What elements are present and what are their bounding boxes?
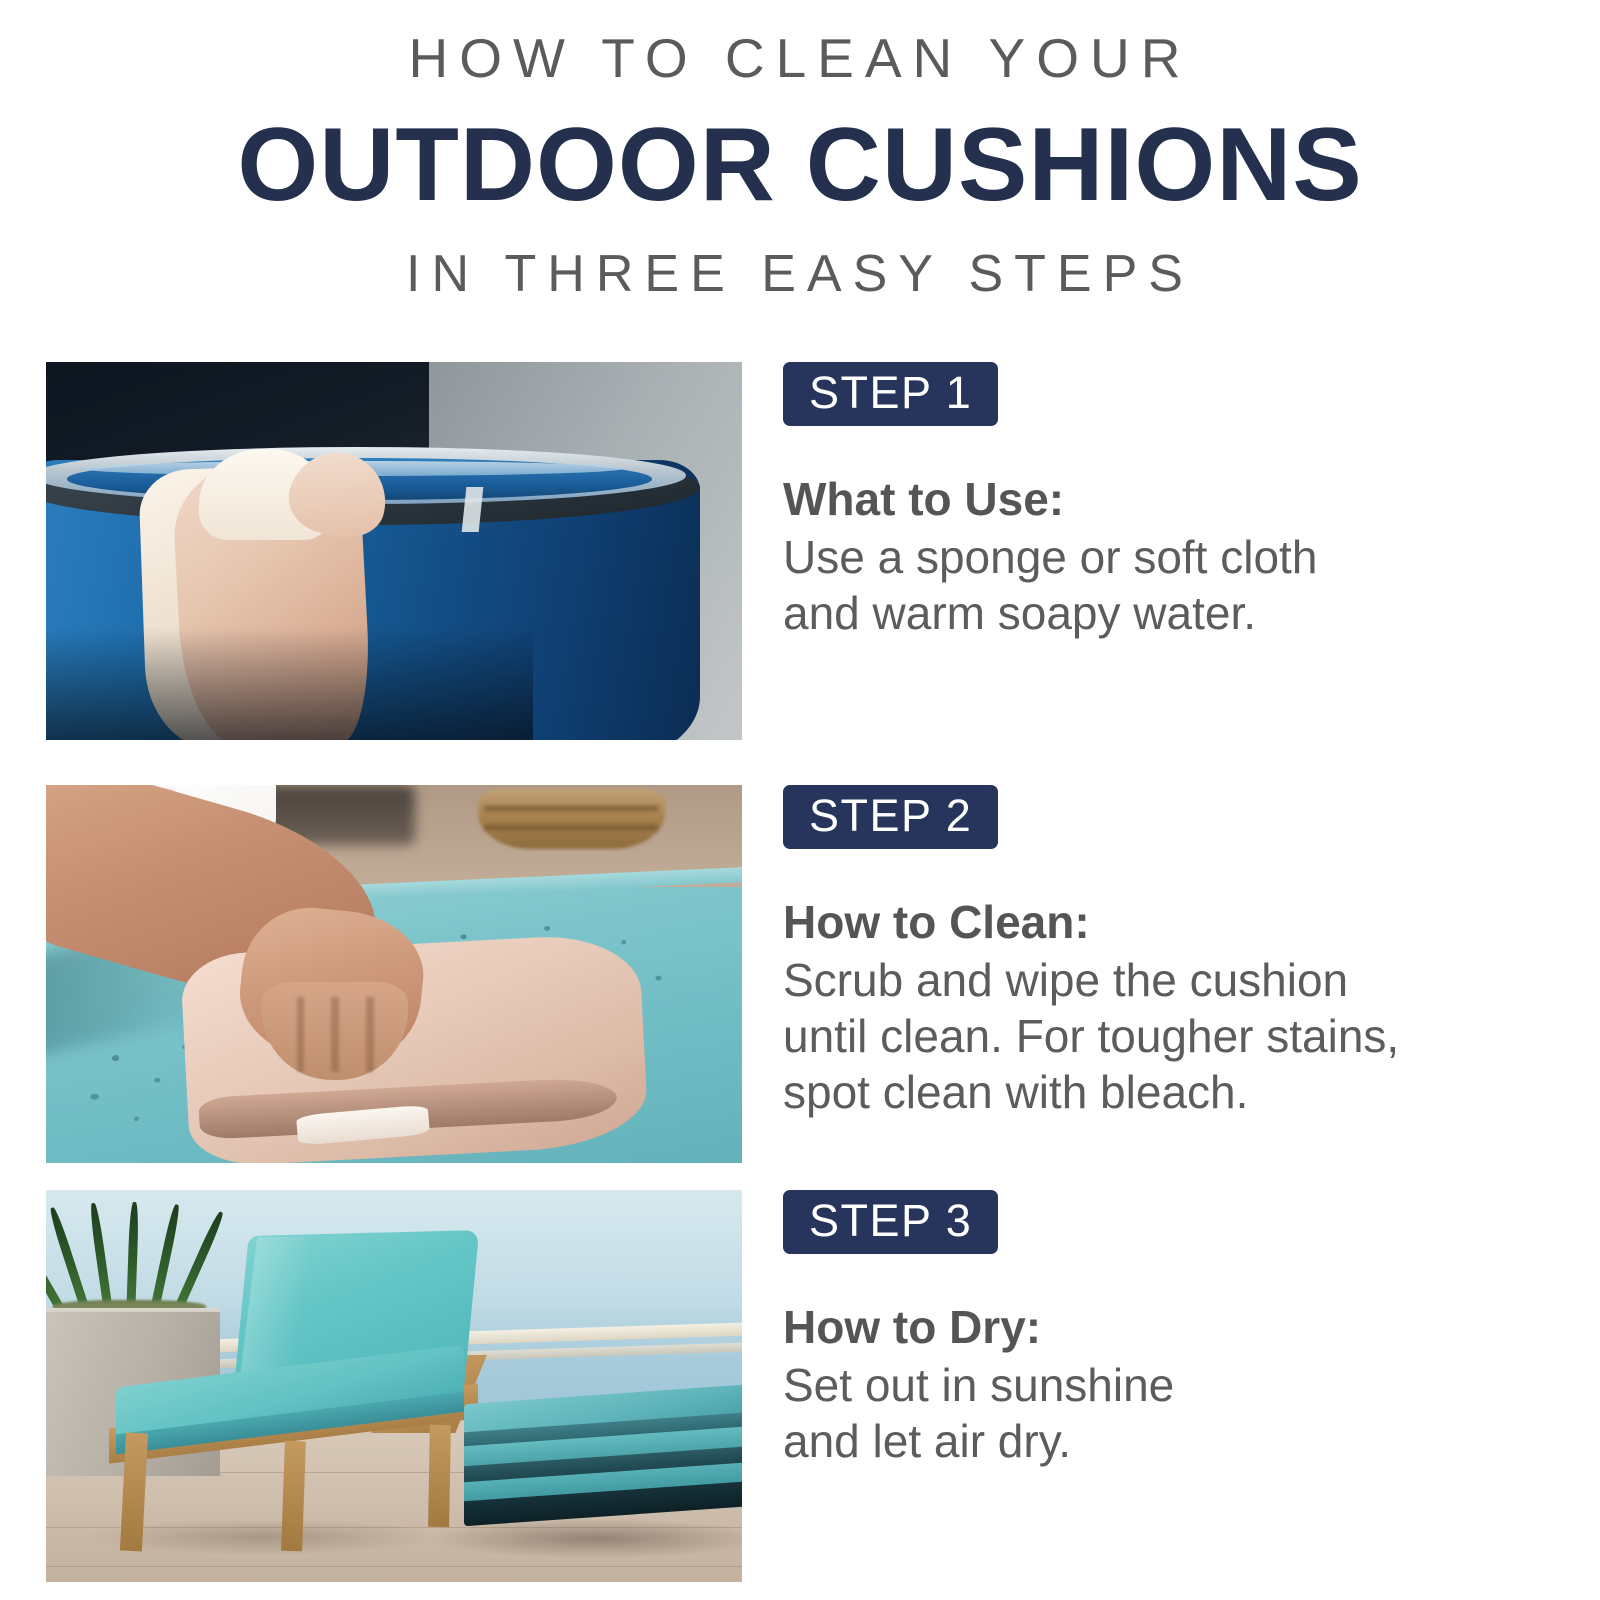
chaise-leg [281, 1441, 306, 1551]
step-3-photo [46, 1190, 742, 1582]
bucket-photo-shadow [46, 627, 533, 740]
header-kicker: HOW TO CLEAN YOUR [0, 30, 1600, 88]
step-3-badge: STEP 3 [783, 1190, 998, 1254]
step-3-body: Set out in sunshine and let air dry. [783, 1357, 1573, 1469]
step-2-text-column: STEP 2 How to Clean: Scrub and wipe the … [783, 785, 1573, 1120]
deck-seam [46, 1566, 742, 1567]
step-1-body: Use a sponge or soft cloth and warm soap… [783, 529, 1573, 641]
step-2-badge: STEP 2 [783, 785, 998, 849]
page-title: OUTDOOR CUSHIONS [0, 106, 1600, 226]
step-1-badge: STEP 1 [783, 362, 998, 426]
finger-separation-line [366, 997, 374, 1073]
infographic-header: HOW TO CLEAN YOUR OUTDOOR CUSHIONS IN TH… [0, 0, 1600, 302]
step-row-1: STEP 1 What to Use: Use a sponge or soft… [0, 362, 1600, 740]
step-row-3: STEP 3 How to Dry: Set out in sunshine a… [0, 1190, 1600, 1582]
header-subkicker: IN THREE EASY STEPS [0, 247, 1600, 302]
step-1-text-column: STEP 1 What to Use: Use a sponge or soft… [783, 362, 1573, 641]
step-row-2: STEP 2 How to Clean: Scrub and wipe the … [0, 785, 1600, 1163]
step-2-body: Scrub and wipe the cushion until clean. … [783, 952, 1573, 1120]
step-1-title: What to Use: [783, 474, 1573, 526]
basket-weave-line [484, 825, 658, 830]
stacked-cushions [464, 1394, 742, 1527]
step-2-title: How to Clean: [783, 897, 1573, 949]
step-1-photo [46, 362, 742, 740]
step-2-photo [46, 785, 742, 1163]
step-3-title: How to Dry: [783, 1302, 1573, 1354]
chaise-leg [428, 1425, 451, 1527]
finger-separation-line [297, 997, 305, 1073]
wicker-basket [478, 789, 666, 849]
basket-weave-line [484, 806, 658, 811]
finger-separation-line [331, 997, 339, 1073]
step-3-text-column: STEP 3 How to Dry: Set out in sunshine a… [783, 1190, 1573, 1469]
